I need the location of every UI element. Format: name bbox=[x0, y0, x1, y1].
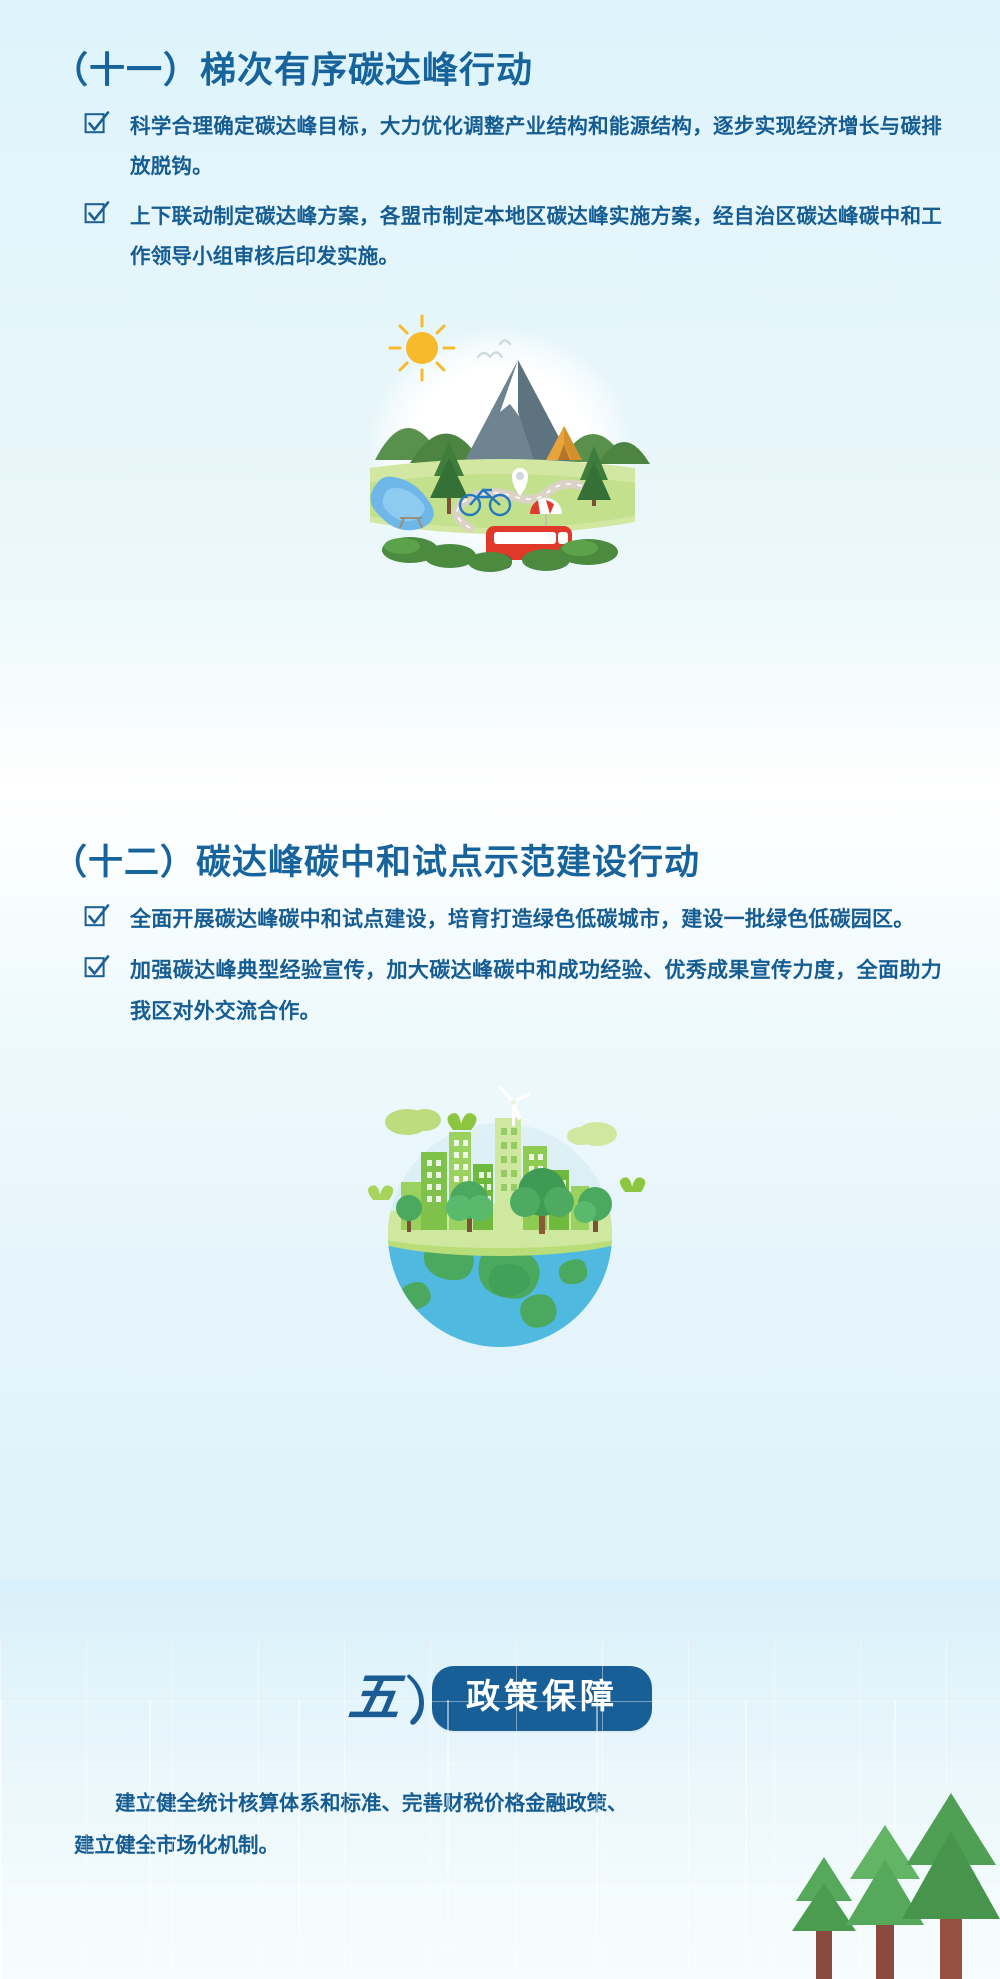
list-item: 全面开展碳达峰碳中和试点建设，培育打造绿色低碳城市，建设一批绿色低碳园区。 bbox=[0, 900, 1000, 951]
green-city-globe-illustration bbox=[335, 1060, 665, 1360]
section-number-glyph: 五 bbox=[346, 1673, 402, 1725]
section-five-body-line: 建立健全市场化机制。 bbox=[74, 1825, 926, 1867]
section-five-pill-label: 政策保障 bbox=[432, 1666, 652, 1731]
section-five-header: 五 政策保障 bbox=[0, 1580, 1000, 1731]
cloud-icon bbox=[385, 1109, 441, 1135]
section-twelve-heading: （十二）碳达峰碳中和试点示范建设行动 bbox=[0, 790, 1000, 884]
section-five-body-line: 建立健全统计核算体系和标准、完善财税价格金融政策、 bbox=[74, 1783, 926, 1825]
section-twelve-bullet-list: 全面开展碳达峰碳中和试点建设，培育打造绿色低碳城市，建设一批绿色低碳园区。 加强… bbox=[0, 900, 1000, 1043]
section-twelve: （十二）碳达峰碳中和试点示范建设行动 全面开展碳达峰碳中和试点建设，培育打造绿色… bbox=[0, 790, 1000, 1580]
checkbox-checked-icon bbox=[84, 200, 110, 226]
checkbox-checked-icon bbox=[84, 110, 110, 136]
mountain-camping-illustration bbox=[350, 300, 650, 590]
butterfly-icon bbox=[620, 1177, 645, 1192]
checkbox-checked-icon bbox=[84, 954, 110, 980]
butterfly-icon bbox=[447, 1113, 476, 1130]
list-item: 上下联动制定碳达峰方案，各盟市制定本地区碳达峰实施方案，经自治区碳达峰碳中和工作… bbox=[0, 197, 1000, 287]
cloud-icon bbox=[567, 1122, 617, 1146]
list-item: 科学合理确定碳达峰目标，大力优化调整产业结构和能源结构，逐步实现经济增长与碳排放… bbox=[0, 107, 1000, 197]
checkbox-checked-icon bbox=[84, 903, 110, 929]
infographic-page: （十一）梯次有序碳达峰行动 科学合理确定碳达峰目标，大力优化调整产业结构和能源结… bbox=[0, 0, 1000, 1979]
section-eleven-heading: （十一）梯次有序碳达峰行动 bbox=[0, 0, 1000, 91]
list-item-text: 上下联动制定碳达峰方案，各盟市制定本地区碳达峰实施方案，经自治区碳达峰碳中和工作… bbox=[130, 197, 942, 277]
butterfly-icon bbox=[368, 1185, 393, 1200]
section-five: 五 政策保障 建立健全统计核算体系和标准、完善财税价格金融政策、 建立健全市场化… bbox=[0, 1580, 1000, 1979]
pine-tree-icon bbox=[792, 1857, 856, 1979]
list-item-text: 全面开展碳达峰碳中和试点建设，培育打造绿色低碳城市，建设一批绿色低碳园区。 bbox=[130, 900, 914, 941]
section-eleven: （十一）梯次有序碳达峰行动 科学合理确定碳达峰目标，大力优化调整产业结构和能源结… bbox=[0, 0, 1000, 790]
section-five-body: 建立健全统计核算体系和标准、完善财税价格金融政策、 建立健全市场化机制。 bbox=[0, 1783, 1000, 1867]
list-item-text: 科学合理确定碳达峰目标，大力优化调整产业结构和能源结构，逐步实现经济增长与碳排放… bbox=[130, 107, 942, 187]
brush-comma-icon bbox=[404, 1669, 430, 1729]
list-item-text: 加强碳达峰典型经验宣传，加大碳达峰碳中和成功经验、优秀成果宣传力度，全面助力我区… bbox=[130, 951, 942, 1033]
section-eleven-bullet-list: 科学合理确定碳达峰目标，大力优化调整产业结构和能源结构，逐步实现经济增长与碳排放… bbox=[0, 107, 1000, 287]
birds-icon bbox=[478, 341, 510, 358]
sun-icon bbox=[390, 316, 454, 380]
list-item: 加强碳达峰典型经验宣传，加大碳达峰碳中和成功经验、优秀成果宣传力度，全面助力我区… bbox=[0, 951, 1000, 1043]
